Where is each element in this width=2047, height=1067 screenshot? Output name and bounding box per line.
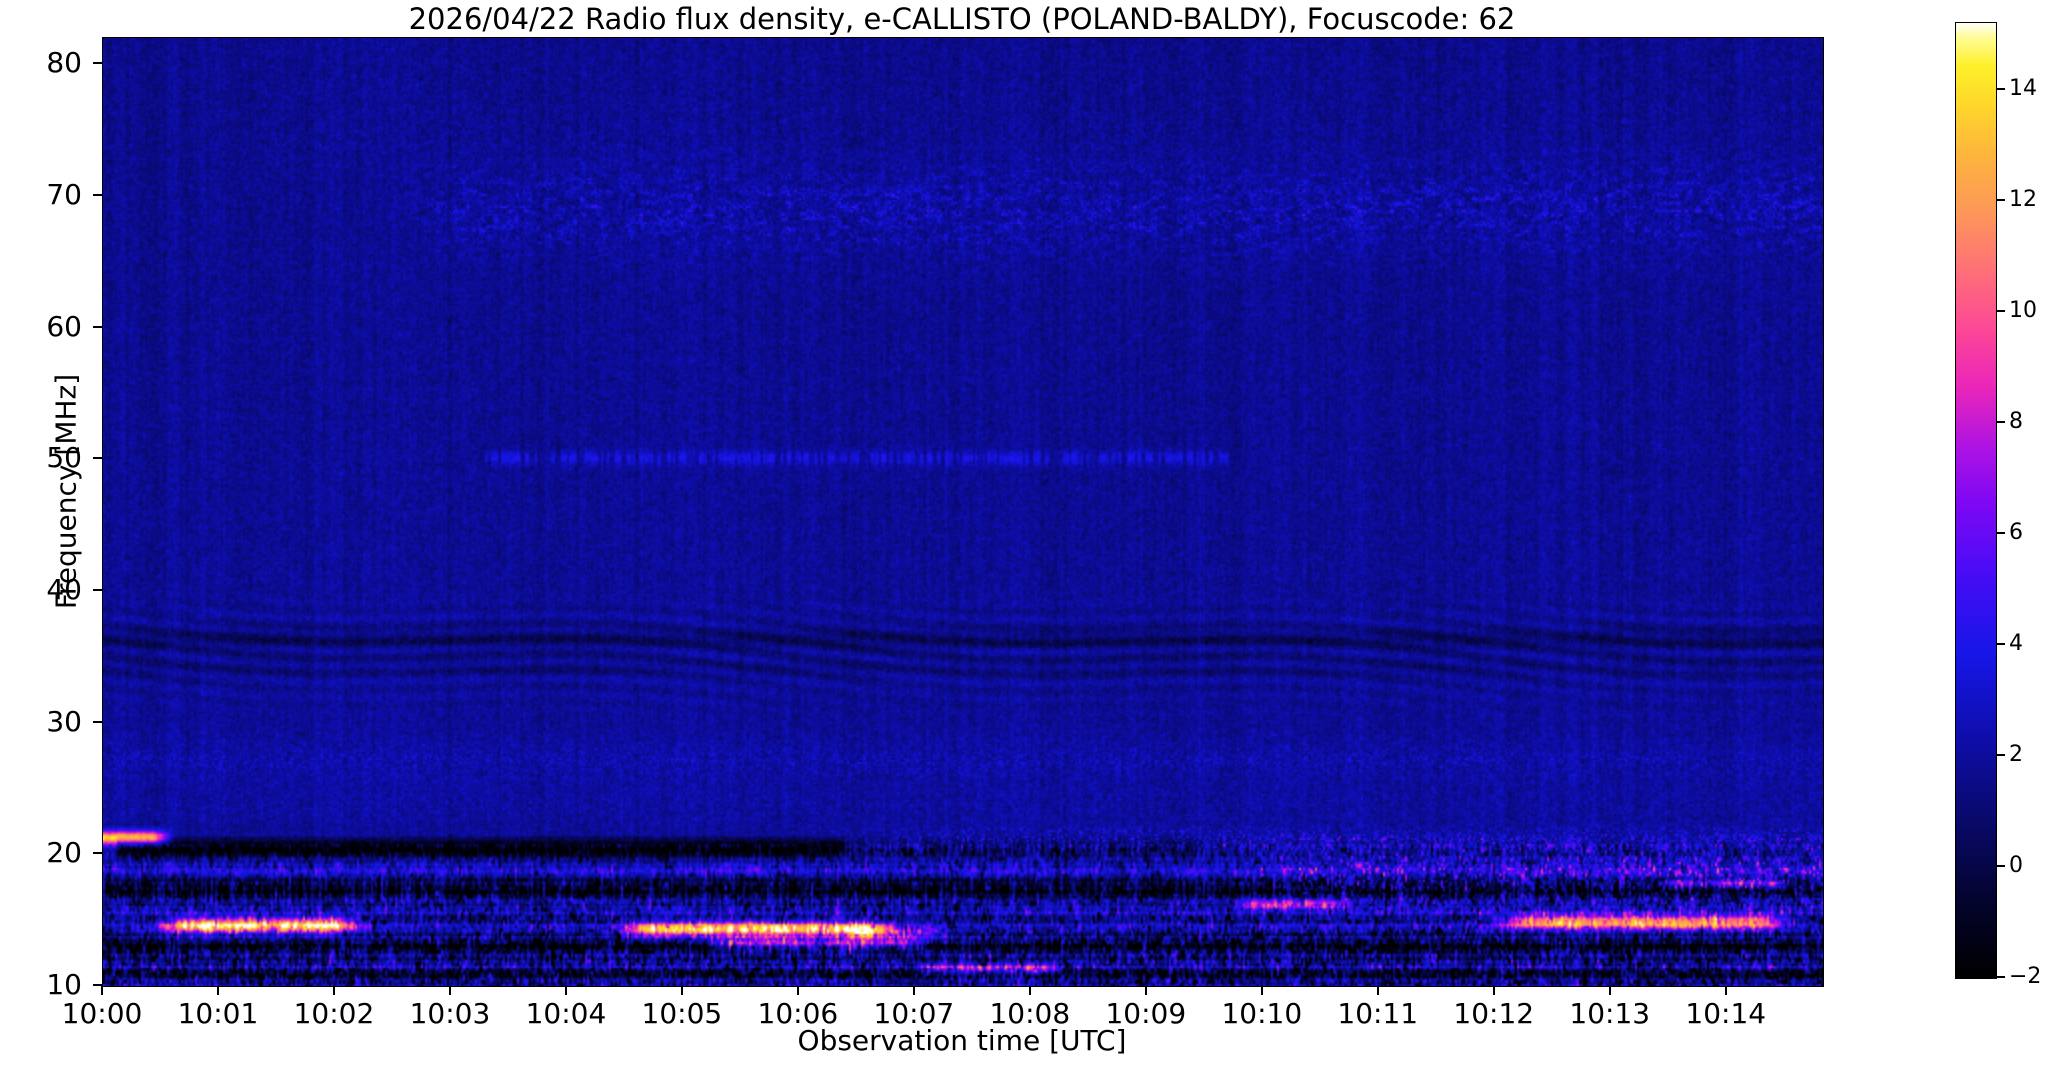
x-tick-mark xyxy=(217,986,219,995)
colorbar-tick-mark xyxy=(1996,199,2005,201)
y-tick-mark xyxy=(93,589,102,591)
colorbar-tick-mark xyxy=(1996,532,2005,534)
colorbar-gradient xyxy=(1956,23,1996,978)
x-tick-mark xyxy=(1261,986,1263,995)
colorbar-tick-mark xyxy=(1996,421,2005,423)
colorbar-tick-mark xyxy=(1996,865,2005,867)
x-tick-mark xyxy=(797,986,799,995)
x-tick-mark xyxy=(101,986,103,995)
x-tick-mark xyxy=(1377,986,1379,995)
colorbar-tick-label: 14 xyxy=(2009,75,2047,103)
x-tick-mark xyxy=(681,986,683,995)
x-tick-mark xyxy=(1493,986,1495,995)
colorbar-tick-label: 12 xyxy=(2009,186,2047,214)
colorbar-tick-label: 8 xyxy=(2009,408,2047,436)
y-tick-mark xyxy=(93,721,102,723)
x-axis-label: Observation time [UTC] xyxy=(102,1024,1822,1057)
y-tick-mark xyxy=(93,457,102,459)
spectrogram-figure: 2026/04/22 Radio flux density, e-CALLIST… xyxy=(0,0,2047,1067)
x-tick-mark xyxy=(1029,986,1031,995)
colorbar-tick-label: 10 xyxy=(2009,297,2047,325)
colorbar-tick-label: 4 xyxy=(2009,630,2047,658)
y-tick-label: 80 xyxy=(0,45,82,81)
page-title: 2026/04/22 Radio flux density, e-CALLIST… xyxy=(102,2,1822,36)
x-tick-mark xyxy=(449,986,451,995)
colorbar-tick-label: 2 xyxy=(2009,741,2047,769)
x-tick-mark xyxy=(565,986,567,995)
colorbar-tick-mark xyxy=(1996,976,2005,978)
colorbar xyxy=(1955,22,1997,979)
colorbar-tick-mark xyxy=(1996,643,2005,645)
y-tick-mark xyxy=(93,62,102,64)
colorbar-tick-mark xyxy=(1996,88,2005,90)
y-tick-mark xyxy=(93,194,102,196)
x-tick-mark xyxy=(1145,986,1147,995)
colorbar-tick-label: −2 xyxy=(2009,963,2047,991)
x-tick-mark xyxy=(1725,986,1727,995)
colorbar-tick-mark xyxy=(1996,754,2005,756)
spectrogram-image xyxy=(103,38,1823,986)
y-tick-mark xyxy=(93,326,102,328)
colorbar-tick-label: 0 xyxy=(2009,852,2047,880)
x-tick-mark xyxy=(333,986,335,995)
x-tick-mark xyxy=(1609,986,1611,995)
y-tick-mark xyxy=(93,852,102,854)
y-axis-label: Frequency [MHz] xyxy=(50,82,83,902)
spectrogram-plot-area xyxy=(102,37,1824,987)
colorbar-tick-label: 6 xyxy=(2009,519,2047,547)
x-tick-mark xyxy=(913,986,915,995)
colorbar-tick-mark xyxy=(1996,310,2005,312)
